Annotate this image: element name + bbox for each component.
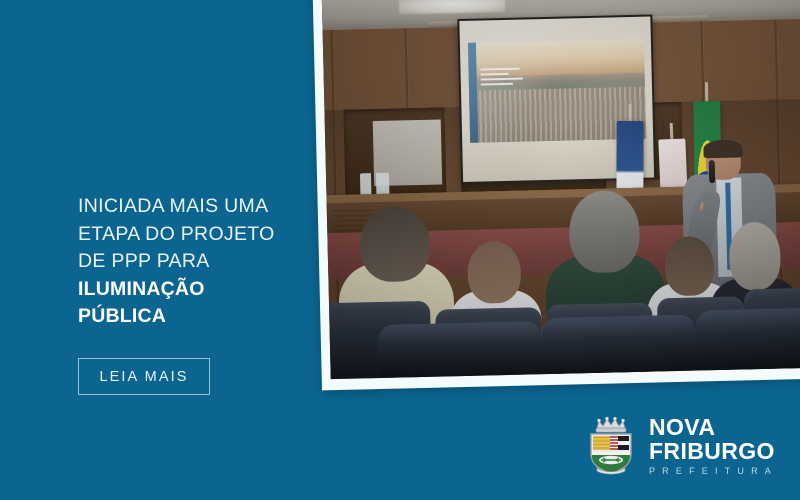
logo-line-friburgo: FRIBURGO <box>649 440 778 463</box>
ceiling-light-icon <box>399 0 505 15</box>
prefeitura-logo: NOVA FRIBURGO PREFEITURA <box>585 416 778 476</box>
headline-line-2: ETAPA DO PROJETO <box>78 221 310 249</box>
person-head <box>359 205 430 282</box>
headline-line-4: ILUMINAÇÃO <box>78 276 310 304</box>
auditorium-seat-front <box>541 315 697 374</box>
person-head <box>467 240 522 303</box>
logo-line-prefeitura: PREFEITURA <box>649 467 778 476</box>
person-head <box>728 222 781 291</box>
person-head <box>569 190 641 274</box>
read-more-button[interactable]: LEIA MAIS <box>78 358 210 395</box>
headline-line-1: INICIADA MAIS UMA <box>78 193 310 221</box>
logo-line-nova: NOVA <box>649 416 778 439</box>
page-title: INICIADA MAIS UMA ETAPA DO PROJETO DE PP… <box>78 193 310 331</box>
auditorium-seat-front <box>378 321 543 378</box>
audience-group <box>326 145 800 379</box>
person-head <box>665 236 715 296</box>
logo-text: NOVA FRIBURGO PREFEITURA <box>649 416 778 476</box>
coat-of-arms-icon <box>585 416 637 476</box>
banner-root: INICIADA MAIS UMA ETAPA DO PROJETO DE PP… <box>0 0 800 500</box>
auditorium-photo <box>322 0 800 379</box>
photo-card <box>313 0 800 390</box>
auditorium-seat-front <box>696 307 800 370</box>
headline-line-5: PÚBLICA <box>78 303 310 331</box>
headline-line-3: DE PPP PARA <box>78 248 310 276</box>
